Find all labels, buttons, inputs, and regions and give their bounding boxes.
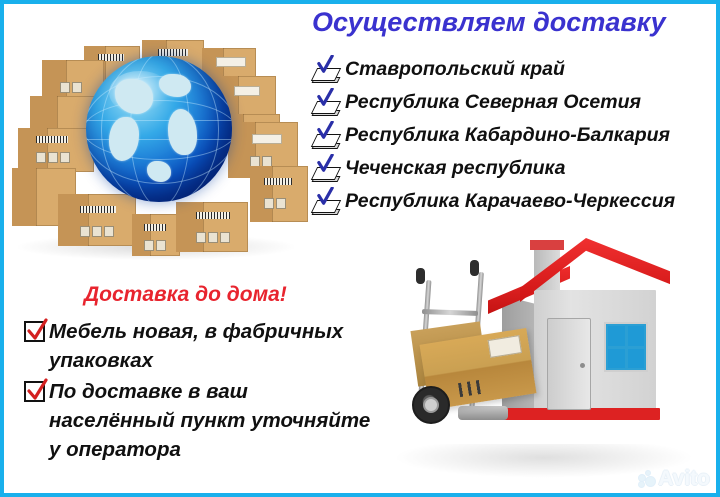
hand-truck-grip bbox=[470, 260, 479, 276]
globe-icon bbox=[86, 56, 232, 202]
list-item: Республика Северная Осетия bbox=[312, 85, 716, 118]
list-item-label: Чеченская республика bbox=[345, 157, 566, 179]
list-item-label: Ставропольский край bbox=[345, 58, 565, 80]
hand-truck-wheel bbox=[412, 386, 450, 424]
house-with-hand-truck-photo bbox=[384, 238, 714, 488]
frame-top-border bbox=[0, 0, 720, 4]
checkmark-glyph bbox=[316, 88, 335, 109]
hand-truck-grip bbox=[416, 268, 425, 284]
parcel-box bbox=[250, 166, 308, 222]
blue-check-tray-icon bbox=[312, 88, 342, 116]
checkmark-glyph bbox=[316, 187, 335, 208]
hand-truck-crossbar bbox=[422, 309, 478, 316]
blue-check-tray-icon bbox=[312, 121, 342, 149]
frame-bottom-border bbox=[0, 493, 720, 497]
parcel-box bbox=[132, 214, 180, 256]
avito-dots-icon bbox=[638, 470, 655, 487]
checkmark-glyph bbox=[316, 121, 335, 142]
list-item: Республика Кабардино-Балкария bbox=[312, 118, 716, 151]
list-item: Республика Карачаево-Черкессия bbox=[312, 184, 716, 217]
advert-image: Осуществляем доставку Ставропольский кра… bbox=[0, 0, 720, 497]
list-item: Ставропольский край bbox=[312, 52, 716, 85]
frame-right-border bbox=[716, 0, 720, 497]
list-item: Чеченская республика bbox=[312, 151, 716, 184]
list-item-label: Мебель новая, в фабричных упаковках bbox=[49, 317, 376, 375]
hand-truck-foot bbox=[458, 406, 508, 420]
red-check-box-icon bbox=[24, 321, 45, 342]
blue-check-tray-icon bbox=[312, 187, 342, 215]
checkmark-glyph bbox=[24, 317, 50, 345]
promo-conditions-list: Мебель новая, в фабричных упаковках По д… bbox=[24, 317, 376, 466]
promo-heading: Доставка до дома! bbox=[84, 283, 287, 307]
house-window bbox=[604, 322, 648, 372]
globe-with-parcels-photo bbox=[6, 18, 306, 266]
red-check-box-icon bbox=[24, 381, 45, 402]
house-door bbox=[547, 318, 591, 410]
frame-left-border bbox=[0, 0, 4, 497]
house-chimney-cap bbox=[530, 240, 564, 250]
checkmark-glyph bbox=[316, 55, 335, 76]
list-item-label: Республика Кабардино-Балкария bbox=[345, 124, 670, 146]
delivery-regions-list: Ставропольский край Республика Северная … bbox=[312, 52, 716, 217]
list-item: По доставке в ваш населённый пункт уточн… bbox=[24, 377, 376, 464]
list-item: Мебель новая, в фабричных упаковках bbox=[24, 317, 376, 375]
parcel-box bbox=[18, 128, 94, 172]
checkmark-glyph bbox=[24, 377, 50, 405]
blue-check-tray-icon bbox=[312, 55, 342, 83]
list-item-label: По доставке в ваш населённый пункт уточн… bbox=[49, 377, 376, 464]
parcel-box bbox=[176, 202, 248, 252]
blue-check-tray-icon bbox=[312, 154, 342, 182]
list-item-label: Республика Северная Осетия bbox=[345, 91, 641, 113]
avito-wordmark: Avito bbox=[658, 468, 710, 489]
avito-watermark: Avito bbox=[638, 468, 710, 489]
list-item-label: Республика Карачаево-Черкессия bbox=[345, 190, 675, 212]
parcel-box bbox=[58, 194, 136, 246]
checkmark-glyph bbox=[316, 154, 335, 175]
page-title: Осуществляем доставку bbox=[312, 7, 712, 37]
